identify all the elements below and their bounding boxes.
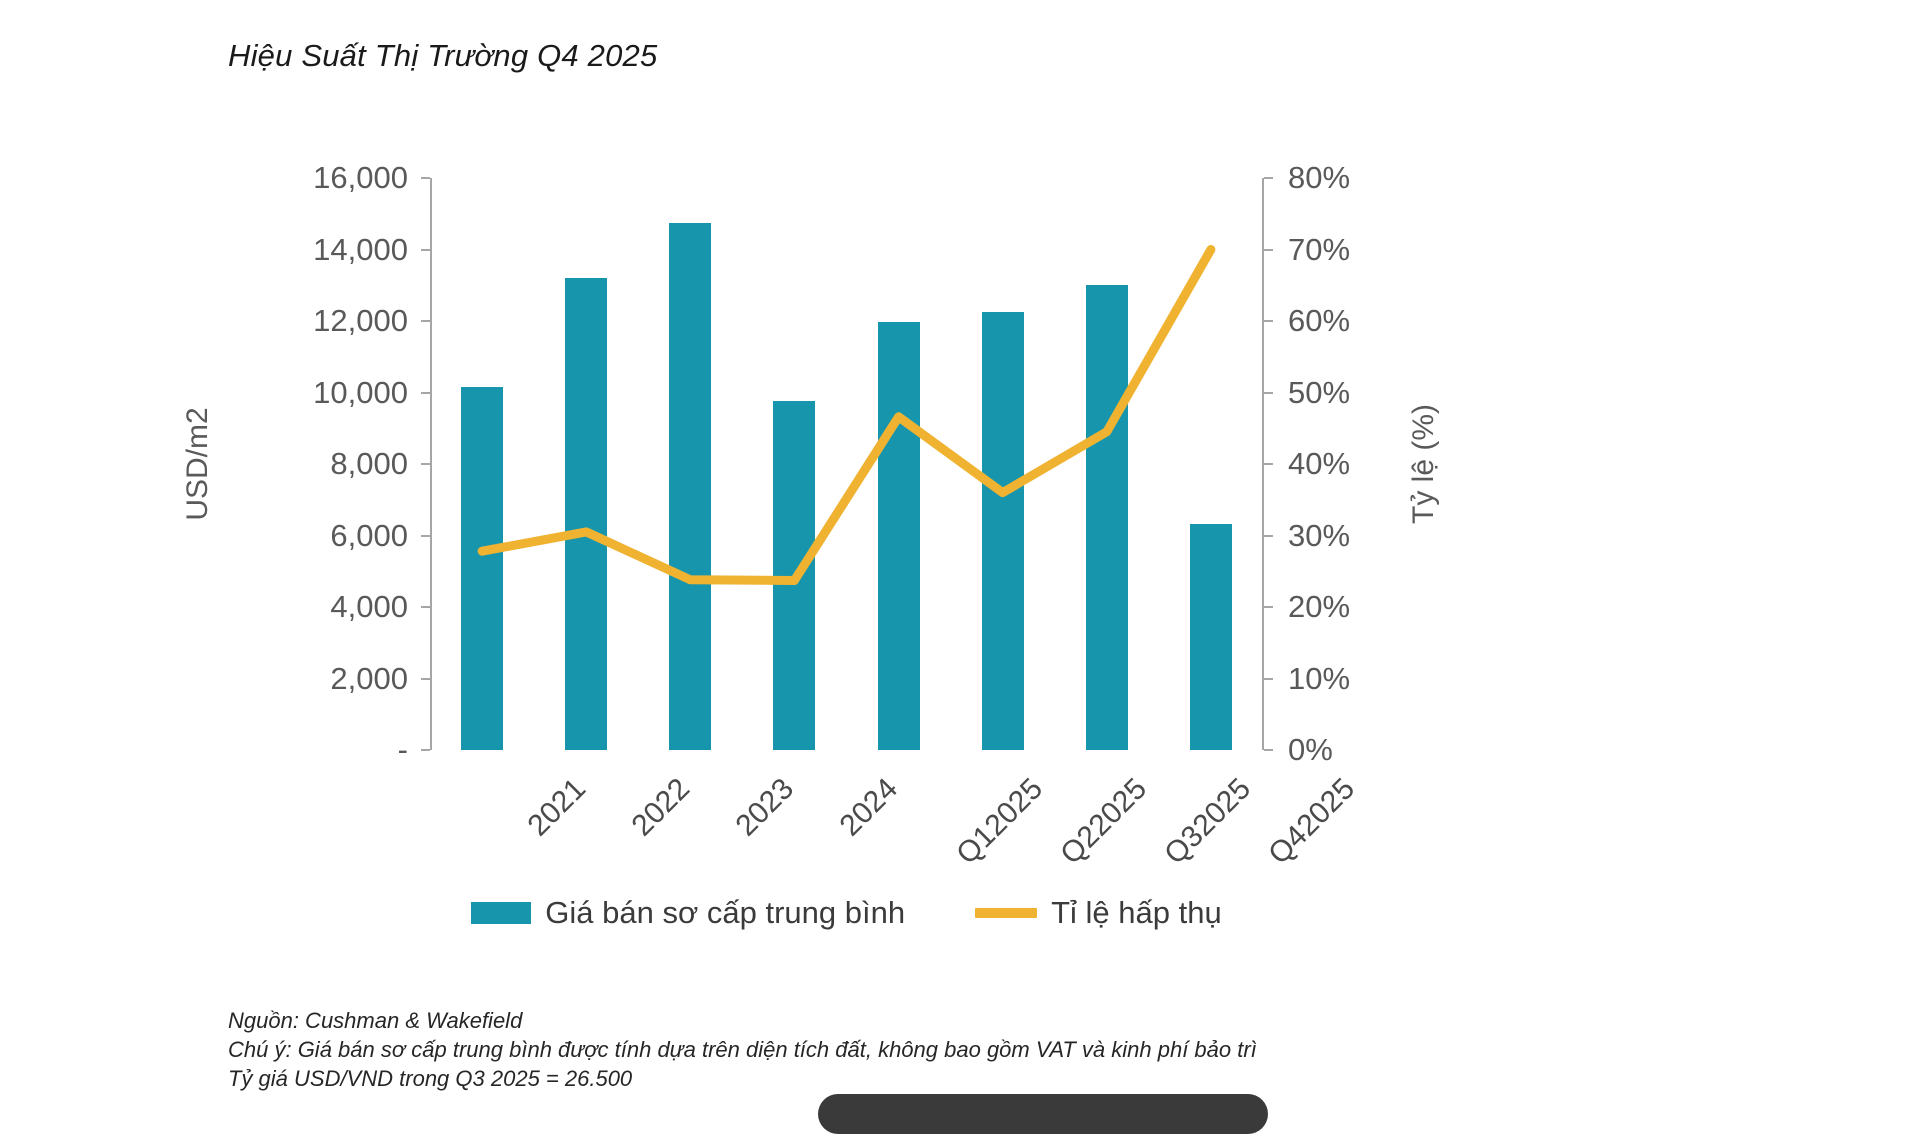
legend-line-label: Tỉ lệ hấp thụ [1051, 895, 1222, 931]
y-axis-left-tick [421, 535, 430, 537]
bottom-toolbar-pill[interactable] [818, 1094, 1268, 1134]
y-axis-right-tick-label: 80% [1288, 160, 1350, 196]
y-axis-left-tick [421, 177, 430, 179]
y-axis-left-tick-label: 12,000 [313, 303, 408, 339]
y-axis-left-tick-label: - [398, 732, 408, 768]
y-axis-left-tick [421, 463, 430, 465]
x-axis-label-2023: 2023 [730, 772, 801, 843]
y-axis-left-tick-label: 10,000 [313, 375, 408, 411]
y-axis-left-tick [421, 249, 430, 251]
y-axis-right-tick [1264, 249, 1273, 251]
y-axis-left-tick-label: 4,000 [330, 589, 408, 625]
legend-bar-label: Giá bán sơ cấp trung bình [545, 895, 905, 931]
y-axis-right-tick-label: 10% [1288, 661, 1350, 697]
chart-canvas: 16,00014,00012,00010,0008,0006,0004,0002… [0, 0, 1920, 1103]
y-axis-left-tick-label: 8,000 [330, 446, 408, 482]
y-axis-left-tick-label: 16,000 [313, 160, 408, 196]
y-axis-left-title: USD/m2 [181, 407, 215, 520]
y-axis-right-title: Tỷ lệ (%) [1407, 404, 1441, 524]
x-axis-label-2024: 2024 [834, 772, 905, 843]
y-axis-right-tick [1264, 392, 1273, 394]
bar-Q22025[interactable] [982, 312, 1024, 750]
x-axis-label-Q32025: Q32025 [1158, 772, 1258, 872]
bar-Q32025[interactable] [1086, 285, 1128, 750]
y-axis-right-tick [1264, 678, 1273, 680]
y-axis-right-tick-label: 0% [1288, 732, 1333, 768]
legend-item-line[interactable]: Tỉ lệ hấp thụ [975, 895, 1222, 931]
x-axis-label-2022: 2022 [626, 772, 697, 843]
x-axis-label-2021: 2021 [522, 772, 593, 843]
y-axis-left-tick-label: 14,000 [313, 232, 408, 268]
chart-legend: Giá bán sơ cấp trung bình Tỉ lệ hấp thụ [430, 895, 1263, 931]
y-axis-right-tick-label: 60% [1288, 303, 1350, 339]
y-axis-left-tick [421, 678, 430, 680]
y-axis-right-tick-label: 70% [1288, 232, 1350, 268]
y-axis-right-tick [1264, 177, 1273, 179]
plot-area [430, 178, 1263, 750]
y-axis-right-tick [1264, 606, 1273, 608]
y-axis-left-tick [421, 320, 430, 322]
legend-bar-swatch-icon [471, 902, 531, 924]
footnote-note: Chú ý: Giá bán sơ cấp trung bình được tí… [228, 1035, 1257, 1064]
bar-2022[interactable] [565, 278, 607, 750]
bar-Q12025[interactable] [878, 322, 920, 750]
footnotes: Nguồn: Cushman & Wakefield Chú ý: Giá bá… [228, 1006, 1257, 1093]
y-axis-left-tick-label: 2,000 [330, 661, 408, 697]
y-axis-right-tick-label: 40% [1288, 446, 1350, 482]
y-axis-right-tick [1264, 535, 1273, 537]
x-axis-label-Q22025: Q22025 [1054, 772, 1154, 872]
y-axis-right-tick-label: 20% [1288, 589, 1350, 625]
y-axis-right-tick [1264, 749, 1273, 751]
y-axis-left-tick-label: 6,000 [330, 518, 408, 554]
y-axis-right-tick [1264, 320, 1273, 322]
bar-2023[interactable] [669, 223, 711, 750]
x-axis-label-Q12025: Q12025 [950, 772, 1050, 872]
footnote-source: Nguồn: Cushman & Wakefield [228, 1006, 1257, 1035]
x-axis-label-Q42025: Q42025 [1262, 772, 1362, 872]
bar-2021[interactable] [461, 387, 503, 750]
bar-Q42025[interactable] [1190, 524, 1232, 750]
footnote-exchange-rate: Tỷ giá USD/VND trong Q3 2025 = 26.500 [228, 1064, 1257, 1093]
legend-line-swatch-icon [975, 908, 1037, 918]
y-axis-left-tick [421, 749, 430, 751]
y-axis-right-tick-label: 50% [1288, 375, 1350, 411]
y-axis-right-tick-label: 30% [1288, 518, 1350, 554]
legend-item-bar[interactable]: Giá bán sơ cấp trung bình [471, 895, 905, 931]
bar-2024[interactable] [773, 401, 815, 750]
y-axis-left-tick [421, 392, 430, 394]
y-axis-left-tick [421, 606, 430, 608]
y-axis-right-tick [1264, 463, 1273, 465]
